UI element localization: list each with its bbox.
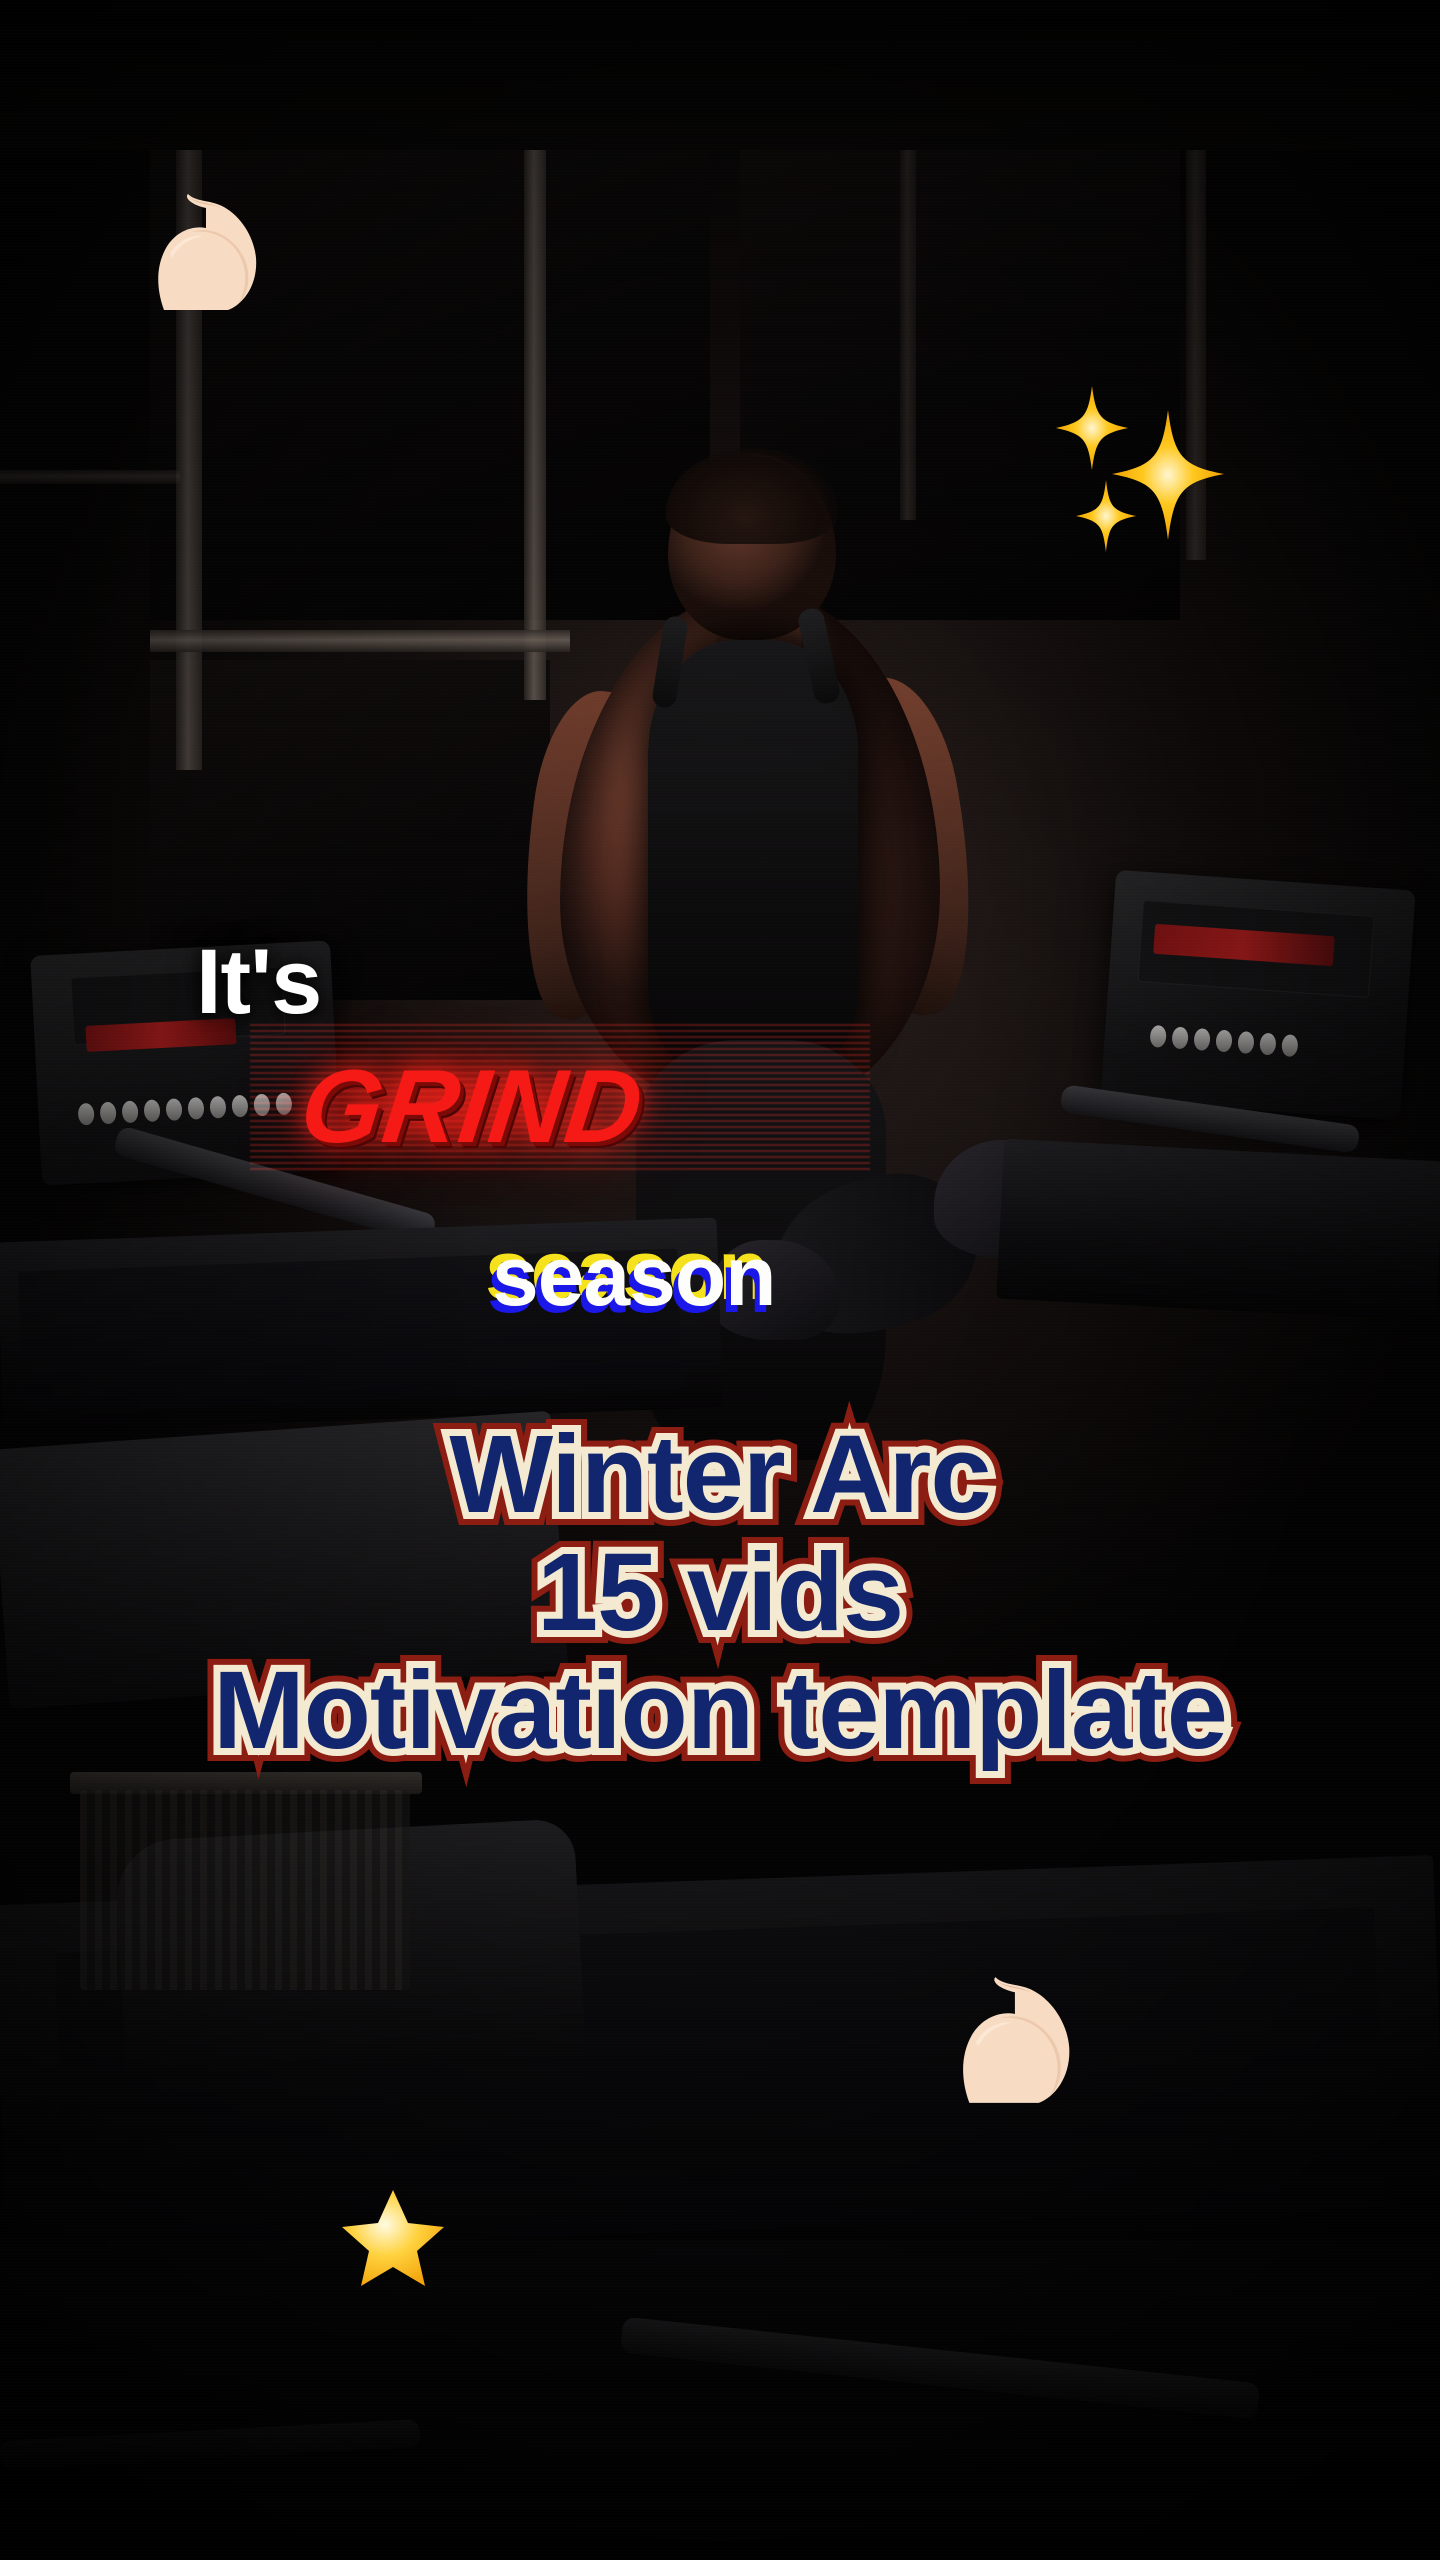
ceiling-band bbox=[0, 0, 1440, 150]
headline-line-2-stack: 15 vids 15 vids 15 vids bbox=[0, 1536, 1440, 1650]
treadmill-deck bbox=[996, 1139, 1440, 1322]
treadmill-button bbox=[122, 1100, 139, 1123]
headline-line-2: 15 vids bbox=[0, 1536, 1440, 1650]
treadmill-button bbox=[78, 1103, 95, 1126]
headline-line-1-stack: Winter Arc Winter Arc Winter Arc bbox=[0, 1418, 1440, 1532]
poster-canvas: It's GRIND season season season Winter A… bbox=[0, 0, 1440, 2560]
treadmill-button bbox=[165, 1098, 182, 1121]
treadmill-button bbox=[1281, 1034, 1298, 1057]
overlay-line-grind-group: GRIND bbox=[280, 1022, 620, 1182]
treadmill-button bbox=[1171, 1026, 1188, 1049]
treadmill-button bbox=[143, 1099, 160, 1122]
treadmill-button bbox=[1259, 1033, 1276, 1056]
treadmill-button bbox=[187, 1097, 204, 1120]
headline-line-1: Winter Arc bbox=[0, 1418, 1440, 1532]
treadmill-button bbox=[209, 1096, 226, 1119]
treadmill-button bbox=[231, 1095, 248, 1118]
wall-radiator bbox=[80, 1790, 410, 1990]
flexed-biceps-emoji bbox=[952, 1970, 1080, 2110]
athlete-hair bbox=[666, 448, 838, 544]
treadmill-button bbox=[1215, 1029, 1232, 1052]
headline-line-2-wrap: 15 vids 15 vids 15 vids bbox=[0, 1536, 1440, 1654]
star-emoji bbox=[340, 2186, 446, 2290]
window-mullion-horizontal bbox=[0, 470, 180, 484]
athlete-tank-top bbox=[648, 640, 858, 1070]
headline-line-3-stack: Motivation template Motivation template … bbox=[0, 1654, 1440, 1768]
headline-line-3-wrap: Motivation template Motivation template … bbox=[0, 1654, 1440, 1772]
overlay-line-season: season bbox=[492, 1228, 776, 1325]
overlay-line-season-group: season season season bbox=[492, 1228, 822, 1338]
treadmill-button bbox=[1149, 1025, 1166, 1048]
overlay-line-grind: GRIND bbox=[295, 1048, 650, 1167]
headline-block: Winter Arc Winter Arc Winter Arc 15 vids… bbox=[0, 1418, 1440, 1772]
treadmill-button bbox=[1237, 1031, 1254, 1054]
headline-line-3: Motivation template bbox=[0, 1654, 1440, 1768]
treadmill-button bbox=[100, 1102, 117, 1125]
flexed-biceps-emoji bbox=[148, 192, 266, 312]
overlay-line-its: It's bbox=[196, 930, 321, 1035]
headline-line-1-wrap: Winter Arc Winter Arc Winter Arc bbox=[0, 1418, 1440, 1536]
sparkles-emoji bbox=[1048, 372, 1228, 552]
treadmill-button bbox=[1193, 1028, 1210, 1051]
